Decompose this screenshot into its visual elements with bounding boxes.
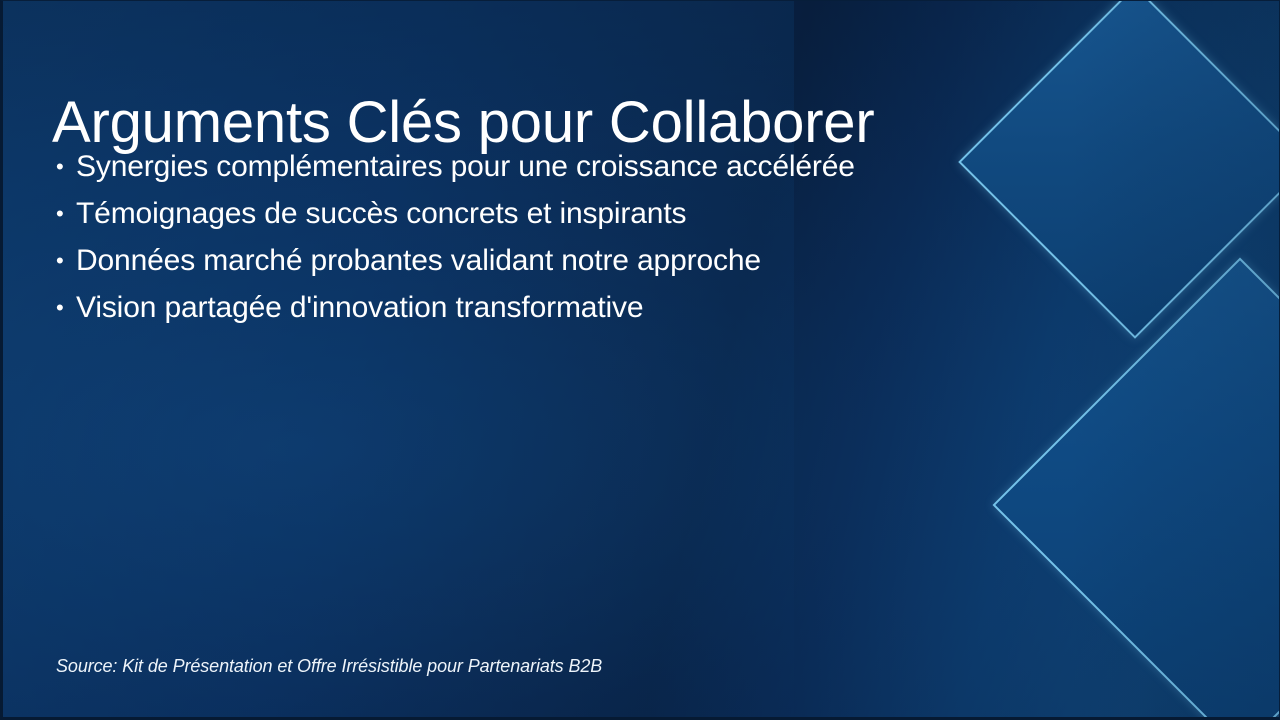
list-item: • Vision partagée d'innovation transform… bbox=[56, 293, 1016, 340]
presentation-slide: Arguments Clés pour Collaborer • Synergi… bbox=[0, 0, 1280, 720]
slide-content: Arguments Clés pour Collaborer • Synergi… bbox=[0, 0, 1280, 720]
source-note: Source: Kit de Présentation et Offre Irr… bbox=[56, 656, 602, 677]
list-item-label: Témoignages de succès concrets et inspir… bbox=[76, 199, 1016, 229]
list-item: • Synergies complémentaires pour une cro… bbox=[56, 152, 1016, 199]
list-item-label: Vision partagée d'innovation transformat… bbox=[76, 293, 1016, 323]
bullet-dot-icon: • bbox=[56, 250, 76, 272]
list-item-label: Données marché probantes validant notre … bbox=[76, 246, 1016, 276]
key-arguments-list: • Synergies complémentaires pour une cro… bbox=[56, 152, 1016, 340]
bullet-dot-icon: • bbox=[56, 203, 76, 225]
bullet-dot-icon: • bbox=[56, 297, 76, 319]
page-title: Arguments Clés pour Collaborer bbox=[52, 91, 982, 156]
bullet-dot-icon: • bbox=[56, 156, 76, 178]
list-item: • Données marché probantes validant notr… bbox=[56, 246, 1016, 293]
list-item-label: Synergies complémentaires pour une crois… bbox=[76, 152, 1016, 182]
list-item: • Témoignages de succès concrets et insp… bbox=[56, 199, 1016, 246]
